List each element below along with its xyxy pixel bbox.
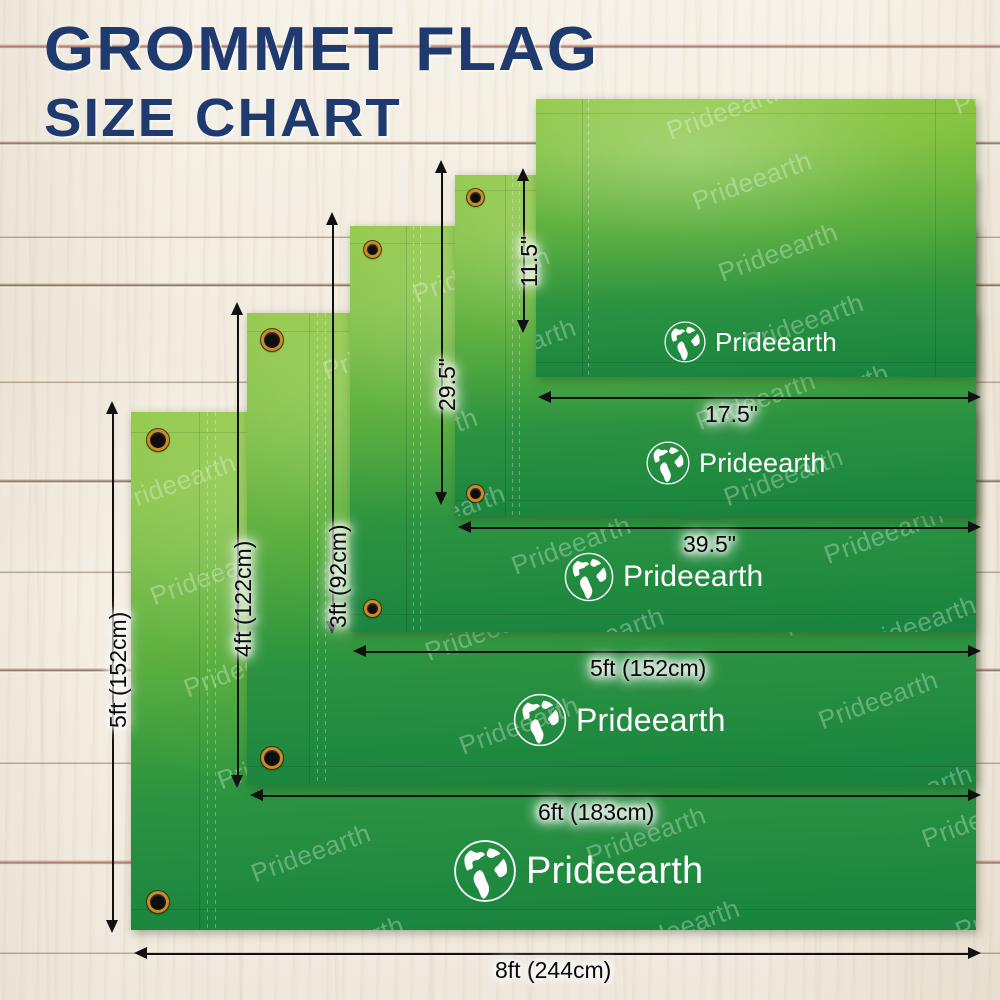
dim-arrowhead-right [968,521,981,533]
flag-hem-line [350,614,976,615]
brand-logo-flag-1: Prideearth [663,320,837,364]
dim-arrowhead-right [968,947,981,959]
page-title: GROMMET FLAG SIZE CHART [44,20,578,144]
dim-line-39-5 [471,527,976,529]
brand-name: Prideearth [623,560,763,594]
dim-line-29-5 [441,170,443,497]
dim-arrowhead-up [517,168,529,181]
brand-logo-flag-5: Prideearth [452,838,703,904]
flag-stitch-line [207,412,208,930]
dim-arrowhead-up [435,160,447,173]
flag-stitch-line [215,412,216,930]
brand-logo-flag-2: Prideearth [645,440,826,486]
flag-hem-line [247,766,976,767]
dim-line-17-5 [551,397,976,399]
flag-hem-line [536,113,976,114]
grommet [147,891,169,913]
dim-arrowhead-left [353,645,366,657]
globe-icon [563,551,615,603]
dim-arrowhead-down [517,320,529,333]
grommet [147,429,169,451]
brand-logo-flag-4: Prideearth [512,692,726,748]
globe-icon [663,320,707,364]
grommet [261,747,283,769]
dim-line-8ft [147,953,976,955]
dim-label-4ft: 4ft (122cm) [230,541,257,657]
grommet [364,600,381,617]
dim-label-5ft-height: 5ft (152cm) [105,612,132,728]
flag-stitch-line [317,313,318,785]
dim-label-6ft: 6ft (183cm) [538,799,654,826]
brand-name: Prideearth [526,850,703,893]
dim-arrowhead-down [435,492,447,505]
brand-name: Prideearth [576,702,726,739]
size-chart-poster: PrideearthPrideearthPrideearthPrideearth… [0,0,1000,1000]
flag-hem-line [406,226,407,632]
grommet [467,485,484,502]
flag-hem-line [505,175,506,516]
grommet [364,241,381,258]
dim-arrowhead-up [326,212,338,225]
dim-arrowhead-right [968,789,981,801]
dim-label-29-5: 29.5" [434,358,461,411]
flag-hem-line [131,909,976,910]
dim-arrowhead-down [231,775,243,788]
dim-label-17-5: 17.5" [705,401,758,428]
dim-arrowhead-right [968,391,981,403]
dim-label-8ft: 8ft (244cm) [495,957,611,984]
grommet [467,189,484,206]
flag-hem-line [309,313,310,785]
globe-icon [645,440,691,486]
globe-icon [452,838,518,904]
title-line-1: GROMMET FLAG [44,20,599,80]
flag-stitch-line [420,226,421,632]
dim-arrowhead-up [106,401,118,414]
dim-arrowhead-left [250,789,263,801]
flag-hem-line [935,99,936,377]
dim-arrowhead-left [538,391,551,403]
dim-arrowhead-down [106,920,118,933]
dim-arrowhead-left [458,521,471,533]
flag-hem-line [199,412,200,930]
dim-line-6ft [263,795,976,797]
grommet [261,329,283,351]
brand-logo-flag-3: Prideearth [563,551,763,603]
dim-label-3ft: 3ft (92cm) [325,524,352,628]
dim-label-5ft-width: 5ft (152cm) [590,655,706,682]
title-line-2: SIZE CHART [44,93,599,145]
flag-stitch-line [413,226,414,632]
flag-stitch-line [512,175,513,516]
dim-line-5ft-width [366,651,976,653]
dim-label-39-5: 39.5" [683,531,736,558]
globe-icon [512,692,568,748]
dim-arrowhead-left [134,947,147,959]
flag-stitch-line [519,175,520,516]
dim-arrowhead-right [968,645,981,657]
flag-hem-line [455,500,976,501]
dim-arrowhead-up [231,302,243,315]
brand-name: Prideearth [699,448,826,479]
dim-label-11-5: 11.5" [516,236,543,287]
brand-name: Prideearth [715,327,837,358]
